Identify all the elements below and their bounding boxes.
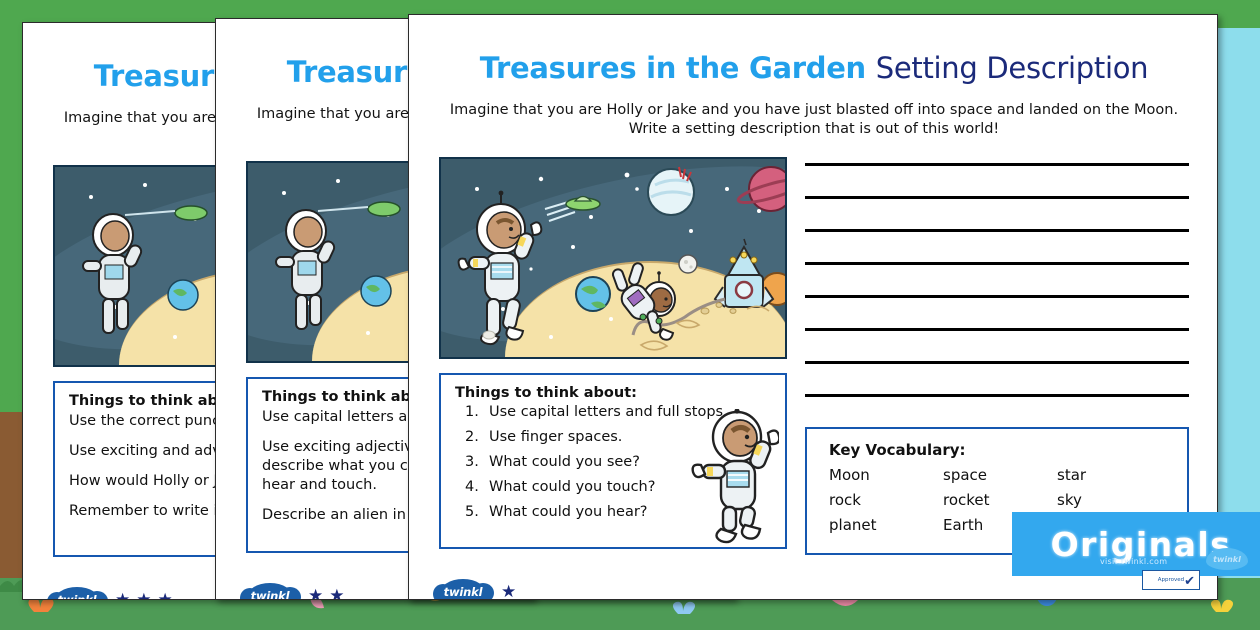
title-subtitle: Setting Description	[876, 51, 1149, 85]
astronaut-doodle-icon	[675, 409, 779, 545]
writing-lines[interactable]	[805, 157, 1189, 397]
astronaut-jake-icon	[612, 262, 675, 340]
twinkl-wordmark: twinkl	[439, 579, 487, 600]
twinkl-mini-logo-icon: twinkl	[1206, 548, 1248, 570]
writing-line[interactable]	[805, 196, 1189, 199]
earth-planet-icon	[576, 277, 610, 311]
intro-instructions: Imagine that you are Holly or Jake and y…	[409, 101, 1218, 139]
things-to-think-about-box: Things to think about: 1. Use capital le…	[439, 373, 787, 549]
visit-url: visit twinkl.com	[1100, 557, 1167, 566]
star-icon: ★	[501, 584, 516, 601]
butterfly-yellow-icon	[1211, 600, 1233, 612]
ice-planet-icon	[648, 167, 694, 215]
think-box-heading: Things to think about:	[455, 385, 773, 401]
vocab-word: rock	[829, 491, 943, 509]
difficulty-stars: ★	[501, 584, 516, 601]
key-vocabulary-heading: Key Vocabulary:	[829, 441, 1171, 459]
approved-label: Approved	[1158, 577, 1184, 583]
page-2-difficulty-stars: ★ ★	[308, 588, 345, 601]
intro-line-1: Imagine that you are Holly or Jake and y…	[409, 101, 1218, 120]
page-1-footer: twinkl ★ ★ ★	[53, 587, 173, 600]
writing-line[interactable]	[805, 361, 1189, 364]
small-moon-icon	[679, 255, 697, 273]
writing-line[interactable]	[805, 328, 1189, 331]
intro-line-2: Write a setting description that is out …	[409, 120, 1218, 139]
writing-line[interactable]	[805, 295, 1189, 298]
page-2-footer: twinkl ★ ★	[246, 583, 345, 600]
writing-line[interactable]	[805, 262, 1189, 265]
screenshot-stage: Treasures in the Garden Setting Descript…	[0, 0, 1260, 630]
twinkl-logo-icon[interactable]: twinkl	[439, 579, 487, 600]
page-title: Treasures in the Garden Setting Descript…	[409, 51, 1218, 85]
writing-line[interactable]	[805, 163, 1189, 166]
vocab-word: rocket	[943, 491, 1057, 509]
vocab-word: space	[943, 466, 1057, 484]
mini-logo-text: twinkl	[1206, 548, 1248, 570]
page-footer: twinkl ★	[439, 579, 516, 600]
twinkl-logo-icon: twinkl	[246, 583, 294, 600]
title-main: Treasures in the Garden	[480, 51, 866, 85]
vocab-word: star	[1057, 466, 1171, 484]
butterfly-blue-icon	[673, 602, 695, 614]
vocab-word: planet	[829, 516, 943, 534]
space-scene-icon	[441, 159, 787, 359]
rocket-icon	[715, 239, 773, 307]
originals-watermark: Originals visit twinkl.com twinkl	[1012, 512, 1260, 576]
page-1-difficulty-stars: ★ ★ ★	[115, 592, 173, 601]
space-illustration	[439, 157, 787, 359]
approved-badge: Approved ✔	[1142, 570, 1200, 590]
ringed-planet-icon	[736, 167, 787, 211]
vocab-word: Moon	[829, 466, 943, 484]
twinkl-logo-icon: twinkl	[53, 587, 101, 600]
astronaut-holly-icon	[459, 191, 542, 345]
writing-line[interactable]	[805, 394, 1189, 397]
writing-line[interactable]	[805, 229, 1189, 232]
vocab-word: sky	[1057, 491, 1171, 509]
check-icon: ✔	[1184, 574, 1195, 589]
